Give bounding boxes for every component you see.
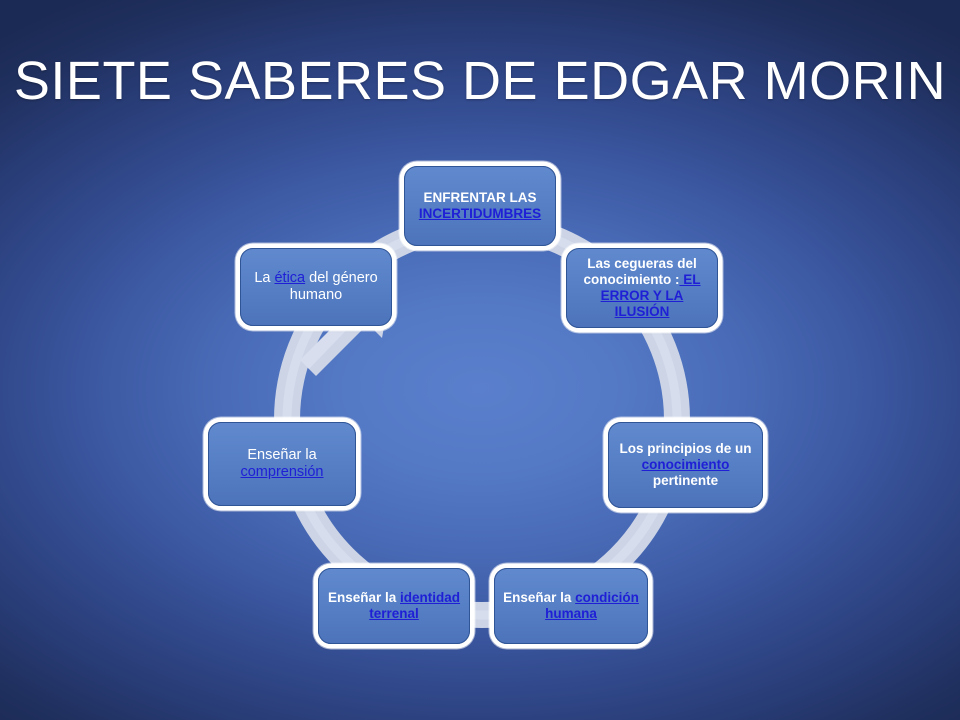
node-plain-text-2: pertinente bbox=[653, 473, 718, 488]
cycle-node-condicion-humana[interactable]: Enseñar la condición humana bbox=[494, 568, 648, 644]
page-title: SIETE SABERES DE EDGAR MORIN bbox=[0, 52, 960, 111]
slide-canvas: SIETE SABERES DE EDGAR MORIN ENFRENTAR L… bbox=[0, 0, 960, 720]
node-plain-text: Enseñar la bbox=[247, 447, 316, 463]
node-plain-text: Enseñar la bbox=[503, 590, 575, 605]
cycle-node-text: Los principios de un conocimiento pertin… bbox=[617, 441, 754, 489]
node-plain-text: La bbox=[254, 270, 274, 286]
node-plain-text: Enseñar la bbox=[328, 590, 400, 605]
cycle-node-identidad-terrenal[interactable]: Enseñar la identidad terrenal bbox=[318, 568, 470, 644]
cycle-node-principios[interactable]: Los principios de un conocimiento pertin… bbox=[608, 422, 763, 508]
cycle-node-text: ENFRENTAR LASINCERTIDUMBRES bbox=[413, 190, 547, 222]
cycle-node-text: Enseñar la comprensión bbox=[217, 447, 347, 481]
cycle-node-comprension[interactable]: Enseñar la comprensión bbox=[208, 422, 356, 506]
cycle-node-text: Enseñar la condición humana bbox=[503, 590, 639, 622]
node-link-comprension[interactable]: comprensión bbox=[240, 464, 323, 480]
node-link-conocimiento[interactable]: conocimiento bbox=[642, 457, 730, 472]
cycle-node-text: Enseñar la identidad terrenal bbox=[327, 590, 461, 622]
cycle-node-incertidumbres[interactable]: ENFRENTAR LASINCERTIDUMBRES bbox=[404, 166, 556, 246]
node-plain-text: Los principios de un bbox=[619, 441, 751, 456]
cycle-node-cegueras[interactable]: Las cegueras del conocimiento : EL ERROR… bbox=[566, 248, 718, 328]
cycle-node-text: La ética del género humano bbox=[249, 270, 383, 304]
cycle-node-etica[interactable]: La ética del género humano bbox=[240, 248, 392, 326]
node-link-incertidumbres[interactable]: INCERTIDUMBRES bbox=[419, 206, 541, 221]
cycle-node-text: Las cegueras del conocimiento : EL ERROR… bbox=[575, 256, 709, 320]
cycle-diagram: ENFRENTAR LASINCERTIDUMBRES Las cegueras… bbox=[0, 130, 960, 710]
node-link-etica[interactable]: ética bbox=[274, 270, 305, 286]
node-plain-text: ENFRENTAR LAS bbox=[424, 190, 537, 205]
